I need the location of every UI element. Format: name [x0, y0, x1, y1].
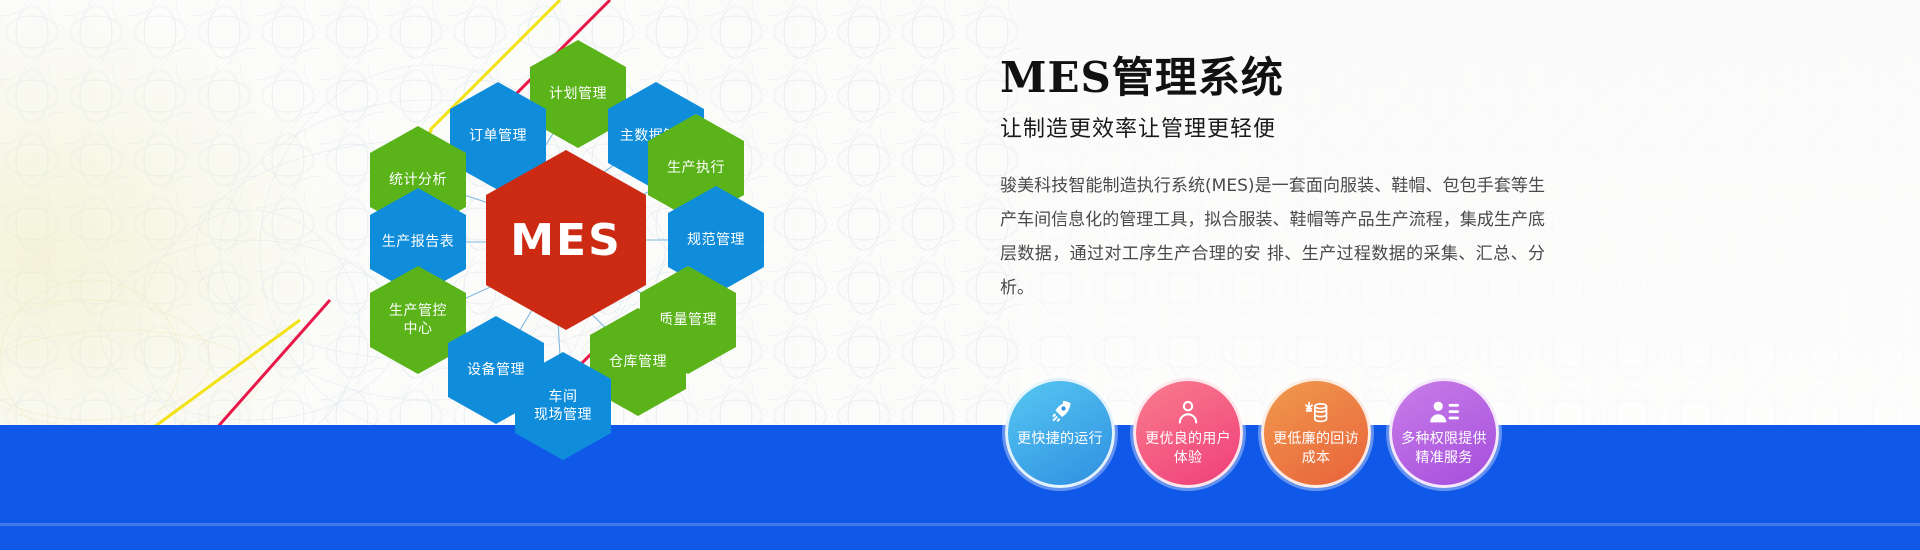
rocket-icon	[1046, 397, 1074, 427]
badge-label: 更快捷的运行	[1012, 430, 1108, 449]
page-title: MES管理系统	[1000, 55, 1600, 101]
blue-band-strip	[0, 523, 1920, 526]
description-paragraph: 骏美科技智能制造执行系统(MES)是一套面向服装、鞋帽、包包手套等生产车间信息化…	[1000, 169, 1545, 305]
feature-badges: 更快捷的运行 更优良的用户体验 更低廉的回访成本	[1005, 378, 1499, 488]
badge-label: 多种权限提供精准服务	[1396, 430, 1492, 468]
hex-label: 生产执行	[667, 159, 725, 177]
hex-label: 车间 现场管理	[534, 388, 592, 424]
badge-faster-operation[interactable]: 更快捷的运行	[1005, 378, 1115, 488]
coins-icon	[1302, 397, 1330, 427]
mes-hexagon-diagram: 计划管理 订单管理 主数据管理 统计分析 生产执行 生产报告表 规范管理 生产管…	[330, 10, 850, 450]
badge-label: 更优良的用户体验	[1140, 430, 1236, 468]
hex-label: 设备管理	[467, 361, 525, 379]
badge-better-user-experience[interactable]: 更优良的用户体验	[1133, 378, 1243, 488]
user-icon	[1174, 397, 1202, 427]
mes-banner: 计划管理 订单管理 主数据管理 统计分析 生产执行 生产报告表 规范管理 生产管…	[0, 0, 1920, 550]
page-subtitle: 让制造更效率让管理更轻便	[1000, 111, 1600, 143]
hex-center-label: MES	[510, 215, 622, 266]
hex-label: 订单管理	[469, 127, 527, 145]
user-list-icon	[1429, 397, 1459, 427]
blue-footer-band	[0, 425, 1920, 550]
content-column: MES管理系统 让制造更效率让管理更轻便 骏美科技智能制造执行系统(MES)是一…	[1000, 55, 1600, 305]
badge-label: 更低廉的回访成本	[1268, 430, 1364, 468]
badge-multi-permission-service[interactable]: 多种权限提供精准服务	[1389, 378, 1499, 488]
badge-lower-revisit-cost[interactable]: 更低廉的回访成本	[1261, 378, 1371, 488]
hex-label: 规范管理	[687, 231, 745, 249]
hex-label: 仓库管理	[609, 353, 667, 371]
hex-label: 生产管控 中心	[389, 302, 447, 338]
hex-label: 生产报告表	[382, 233, 455, 251]
background-wash-left	[0, 0, 360, 430]
hex-label: 计划管理	[549, 85, 607, 103]
hex-label: 统计分析	[389, 171, 447, 189]
